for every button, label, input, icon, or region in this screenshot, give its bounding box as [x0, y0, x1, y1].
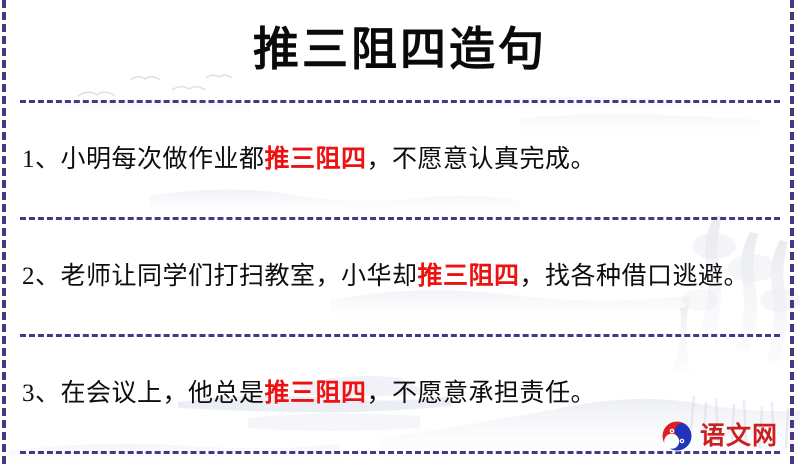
- worksheet-page: 推三阻四造句 1、小明每次做作业都推三阻四，不愿意认真完成。 2、老师让同学们打…: [0, 0, 800, 464]
- divider-rule-1: [20, 100, 780, 103]
- sentence-2-after: ，找各种借口逃避。: [520, 263, 750, 290]
- page-title: 推三阻四造句: [253, 27, 547, 73]
- sentence-1-number: 1、: [22, 146, 61, 173]
- title-block: 推三阻四造句: [18, 0, 782, 100]
- divider-rule-2: [20, 217, 780, 220]
- sentence-1-idiom: 推三阻四: [265, 146, 367, 173]
- sentence-1-before: 小明每次做作业都: [61, 146, 265, 173]
- sentence-3-before: 在会议上，他总是: [61, 380, 265, 407]
- site-name-label: 语文网: [700, 424, 778, 449]
- sentence-item-2: 2、老师让同学们打扫教室，小华却推三阻四，找各种借口逃避。: [18, 245, 782, 309]
- sentence-2-idiom: 推三阻四: [418, 263, 520, 290]
- sentence-item-3: 3、在会议上，他总是推三阻四，不愿意承担责任。: [18, 362, 782, 426]
- sentence-1-after: ，不愿意认真完成。: [367, 146, 597, 173]
- sentence-3-idiom: 推三阻四: [265, 380, 367, 407]
- yinyang-fish-logo-icon: [661, 420, 693, 452]
- sentence-3-after: ，不愿意承担责任。: [367, 380, 597, 407]
- sentence-2-number: 2、: [22, 263, 61, 290]
- divider-rule-3: [20, 334, 780, 337]
- sentence-item-1: 1、小明每次做作业都推三阻四，不愿意认真完成。: [18, 128, 782, 192]
- site-watermark: 语文网: [661, 420, 778, 452]
- sentence-3-number: 3、: [22, 380, 61, 407]
- worksheet-content: 推三阻四造句 1、小明每次做作业都推三阻四，不愿意认真完成。 2、老师让同学们打…: [0, 0, 800, 464]
- sentence-2-before: 老师让同学们打扫教室，小华却: [61, 263, 418, 290]
